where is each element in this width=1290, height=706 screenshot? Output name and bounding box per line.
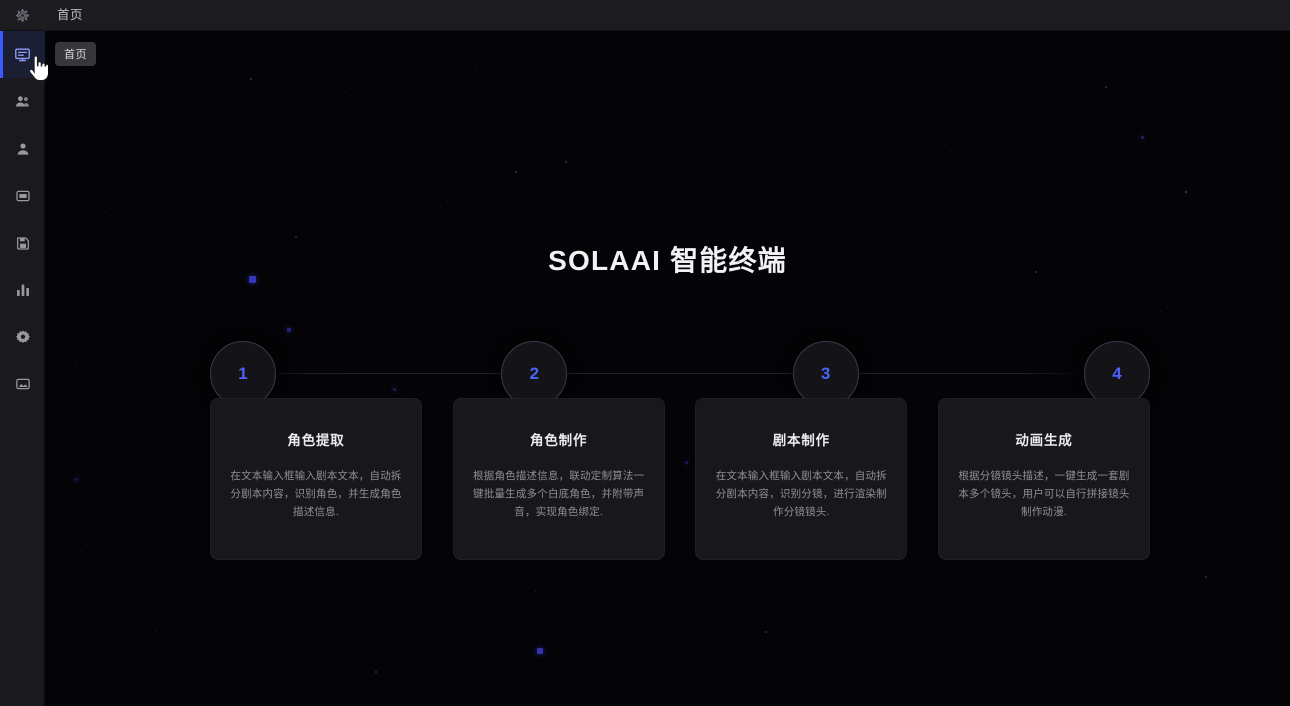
page-content: SOLAAI 智能终端 1 2 3 4 角色提取 在文本输入框输入剧本文本，自动… (45, 31, 1290, 706)
feature-card[interactable]: 角色制作 根据角色描述信息，联动定制算法一键批量生成多个白底角色，并附带声音，实… (453, 398, 665, 560)
feature-card[interactable]: 剧本制作 在文本输入框输入剧本文本，自动拆分剧本内容，识别分镜，进行渲染制作分镜… (695, 398, 907, 560)
feature-card-description: 根据角色描述信息，联动定制算法一键批量生成多个白底角色，并附带声音，实现角色绑定… (472, 467, 646, 521)
sidebar-item-profile[interactable] (0, 125, 45, 172)
sidebar-item-home[interactable] (0, 31, 45, 78)
feature-card-title: 动画生成 (957, 429, 1131, 449)
card-icon (15, 188, 31, 204)
sidebar-item-gallery[interactable] (0, 360, 45, 407)
bar-chart-icon (15, 282, 31, 298)
feature-card-description: 在文本输入框输入剧本文本，自动拆分剧本内容，识别角色，并生成角色描述信息. (229, 467, 403, 521)
feature-card-title: 剧本制作 (714, 429, 888, 449)
feature-card-description: 根据分镜镜头描述，一键生成一套剧本多个镜头，用户可以自行拼接镜头制作动漫. (957, 467, 1131, 521)
users-group-icon (14, 93, 31, 110)
app-logo-icon[interactable] (0, 0, 45, 31)
save-icon (15, 235, 31, 251)
feature-card-title: 角色制作 (472, 429, 646, 449)
feature-card[interactable]: 动画生成 根据分镜镜头描述，一键生成一套剧本多个镜头，用户可以自行拼接镜头制作动… (938, 398, 1150, 560)
header-tab-home[interactable]: 首页 (49, 0, 91, 31)
feature-cards-row: 角色提取 在文本输入框输入剧本文本，自动拆分剧本内容，识别角色，并生成角色描述信… (210, 398, 1150, 560)
feature-card[interactable]: 角色提取 在文本输入框输入剧本文本，自动拆分剧本内容，识别角色，并生成角色描述信… (210, 398, 422, 560)
page-title: SOLAAI 智能终端 (45, 239, 1290, 279)
sidebar-item-settings[interactable] (0, 313, 45, 360)
main-stage: SOLAAI 智能终端 1 2 3 4 角色提取 在文本输入框输入剧本文本，自动… (45, 31, 1290, 706)
feature-card-description: 在文本输入框输入剧本文本，自动拆分剧本内容，识别分镜，进行渲染制作分镜镜头. (714, 467, 888, 521)
feature-card-title: 角色提取 (229, 429, 403, 449)
gear-icon (15, 329, 31, 345)
image-icon (15, 376, 31, 392)
top-header: 首页 (0, 0, 1290, 31)
app-window: 首页 (0, 0, 1290, 706)
sidebar-item-characters[interactable] (0, 78, 45, 125)
user-icon (15, 141, 31, 157)
left-sidebar (0, 31, 45, 706)
sidebar-tooltip: 首页 (55, 42, 96, 66)
sidebar-item-storyboard[interactable] (0, 219, 45, 266)
sidebar-item-script[interactable] (0, 172, 45, 219)
monitor-icon (14, 46, 31, 63)
sidebar-item-analytics[interactable] (0, 266, 45, 313)
